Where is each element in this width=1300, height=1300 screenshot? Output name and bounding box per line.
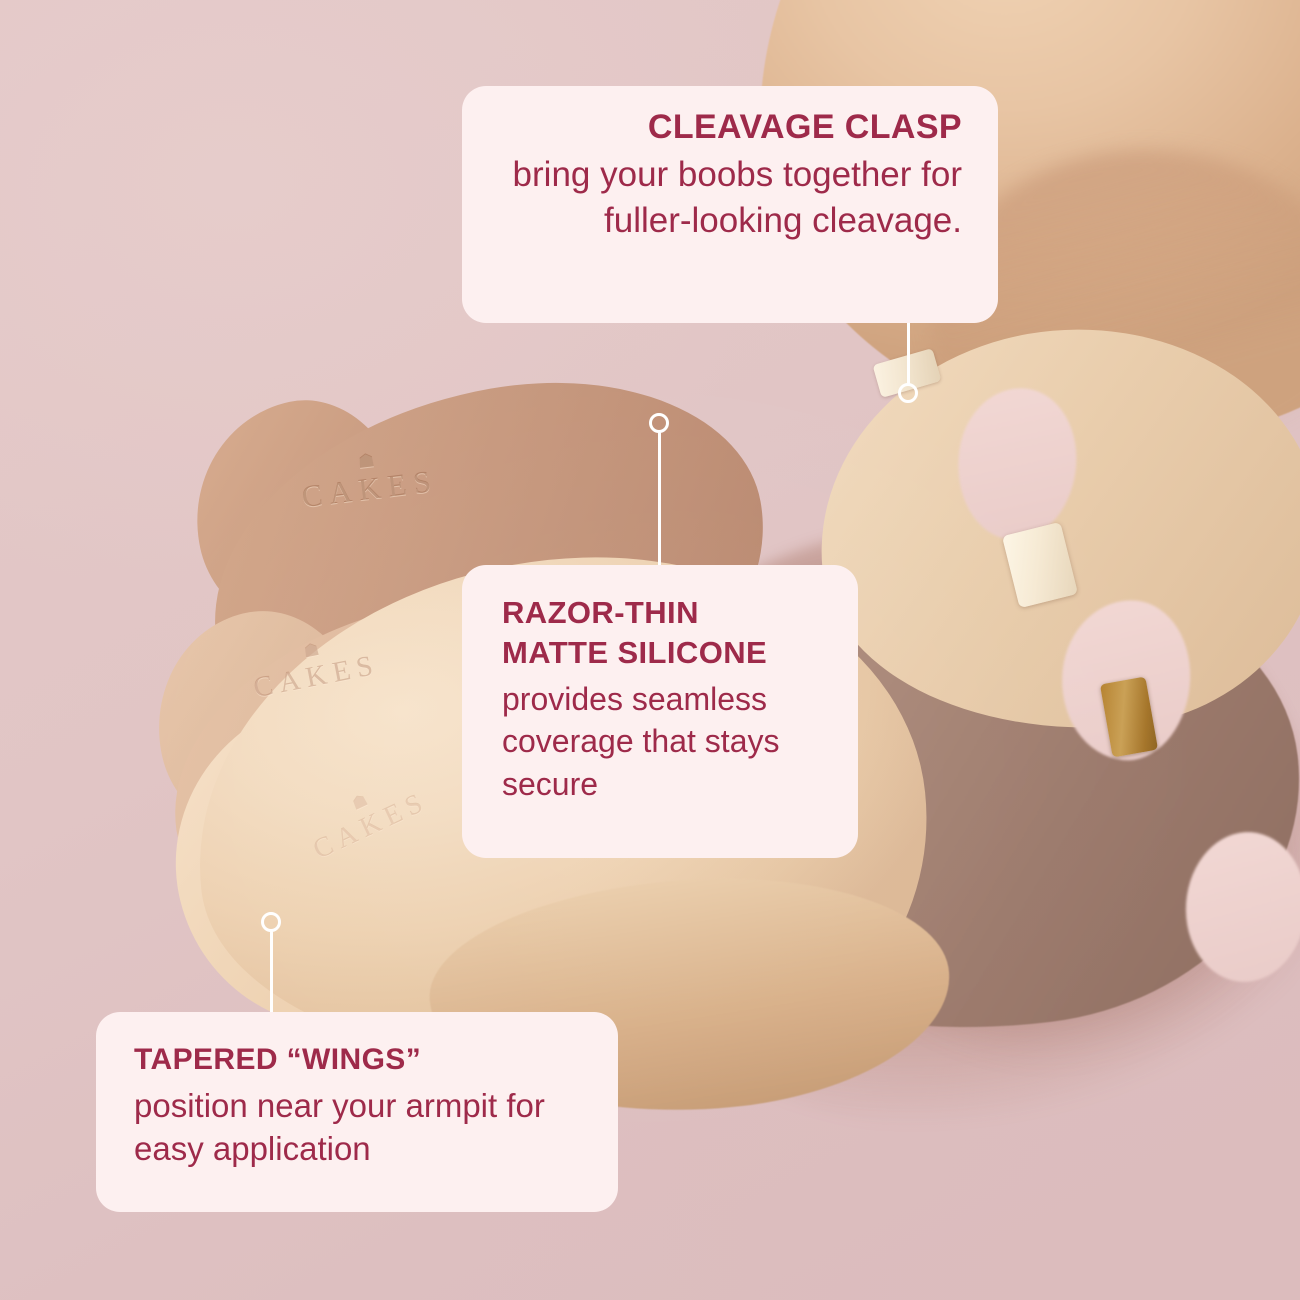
callout-title: TAPERED “WINGS” (134, 1042, 592, 1077)
callout-body: bring your boobs together for fuller-loo… (492, 152, 962, 243)
ring-marker-icon (898, 383, 918, 403)
infographic-canvas: ☗ CAKES ☗ CAKES ☗ CAKES CLEAVAGE CLASP b… (0, 0, 1300, 1300)
ring-marker-icon (649, 413, 669, 433)
callout-razor-thin-matte-silicone: RAZOR-THIN MATTE SILICONE provides seaml… (462, 565, 858, 858)
ring-marker-icon (261, 912, 281, 932)
callout-body: position near your armpit for easy appli… (134, 1085, 592, 1171)
callout-body: provides seamless coverage that stays se… (502, 678, 832, 806)
callout-title: CLEAVAGE CLASP (492, 108, 962, 146)
callout-cleavage-clasp: CLEAVAGE CLASP bring your boobs together… (462, 86, 998, 323)
connector-line (270, 931, 273, 1015)
callout-title-line-1: RAZOR-THIN (502, 593, 832, 633)
connector-line (658, 432, 661, 568)
callout-tapered-wings: TAPERED “WINGS” position near your armpi… (96, 1012, 618, 1212)
callout-title-line-2: MATTE SILICONE (502, 633, 832, 673)
connector-line (907, 320, 910, 386)
